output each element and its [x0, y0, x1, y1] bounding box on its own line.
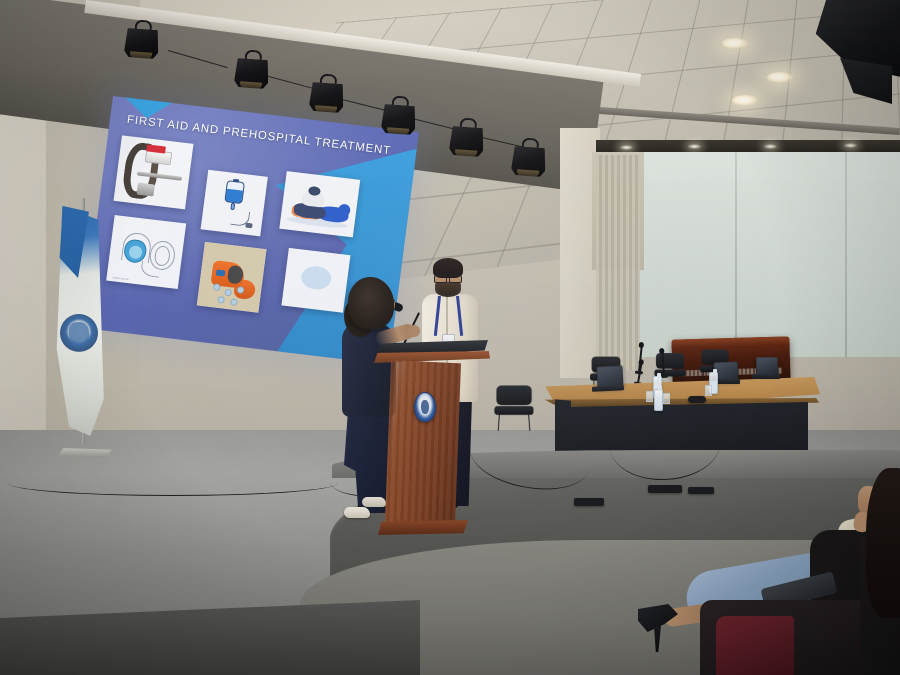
laptop[interactable] [756, 357, 778, 375]
glass-panel-divider [845, 152, 847, 357]
stage-spotlight [381, 95, 418, 137]
drinking-glass[interactable] [646, 391, 653, 402]
audience-front-right [860, 468, 900, 675]
power-strip [648, 485, 682, 493]
glasses-icon [434, 275, 462, 281]
lecture-hall-photo: FIRST AID AND PREHOSPITAL TREATMENT [0, 0, 900, 675]
header-downlight [688, 144, 701, 149]
presenter-shoe [344, 507, 370, 518]
institutional-flag [38, 196, 124, 458]
audience-hair [866, 468, 900, 618]
power-strip [574, 498, 604, 506]
water-bottle[interactable] [654, 389, 663, 411]
slide-thumb-iv-drip [201, 170, 268, 237]
slide-thumb-collar-device [197, 242, 267, 313]
glass-panel-divider [735, 152, 737, 357]
wood-grain [385, 360, 461, 528]
stage-spotlight [234, 49, 271, 91]
ceiling-downlight [722, 38, 748, 49]
presenter-hair [348, 277, 394, 329]
laptop-base [752, 374, 780, 379]
header-downlight [844, 143, 857, 148]
flag-stand [58, 448, 112, 458]
auditorium-seat-cushion [716, 616, 794, 675]
speaker-podium [385, 360, 461, 528]
vertical-blinds[interactable] [596, 155, 640, 370]
drinking-glass[interactable] [663, 393, 670, 404]
drinking-glass[interactable] [705, 385, 712, 396]
slide-thumb-cpr [279, 171, 360, 237]
slide-thumb-tourniquet [114, 135, 194, 209]
ceiling-downlight [732, 95, 758, 106]
podium-base [378, 520, 468, 535]
heel-spike [654, 626, 661, 652]
header-downlight [764, 144, 777, 149]
stage-spotlight [449, 117, 486, 159]
piano-lid [671, 336, 789, 348]
panel-chair[interactable] [494, 385, 533, 430]
header-downlight [620, 145, 633, 150]
stage-spotlight [511, 137, 548, 179]
stage-spotlight [124, 19, 161, 61]
stage-spotlight [309, 73, 346, 115]
av-equipment [688, 396, 706, 403]
presenter-shoe [362, 497, 386, 507]
presenter-beard [435, 282, 461, 297]
ceiling-downlight [767, 72, 793, 83]
power-strip [688, 487, 714, 494]
university-emblem [414, 392, 437, 422]
floor-cable [8, 470, 338, 496]
